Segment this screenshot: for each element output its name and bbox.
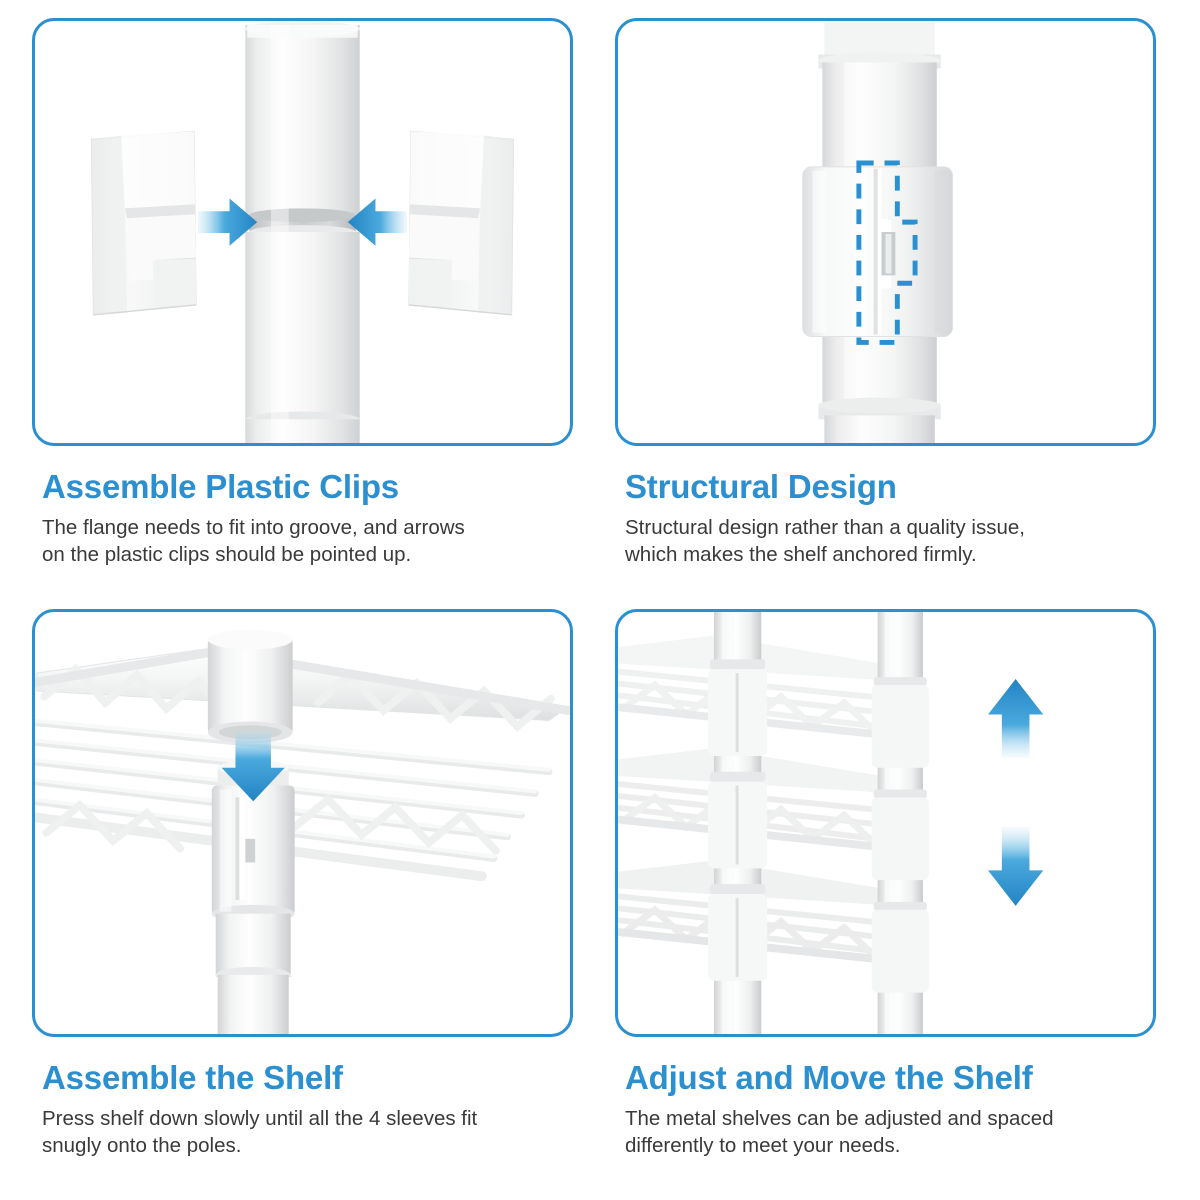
caption-assemble-the-shelf: Assemble the Shelf Press shelf down slow… <box>32 1037 573 1159</box>
shelf-pole-front <box>872 612 929 1034</box>
panel-body: Press shelf down slowly until all the 4 … <box>42 1105 573 1159</box>
figure-structural-design <box>615 18 1156 446</box>
panel-body: The flange needs to fit into groove, and… <box>42 514 573 568</box>
panel-body-line: The flange needs to fit into groove, and… <box>42 514 573 541</box>
panel-body-line: Structural design rather than a quality … <box>625 514 1156 541</box>
plastic-clip-right <box>409 131 514 314</box>
panel-title: Structural Design <box>625 470 1156 505</box>
figure-adjust-and-move-the-shelf <box>615 609 1156 1037</box>
instruction-sheet: Assemble Plastic Clips The flange needs … <box>0 0 1200 1200</box>
panel-title: Adjust and Move the Shelf <box>625 1061 1156 1096</box>
panel-adjust-and-move-the-shelf: Adjust and Move the Shelf The metal shel… <box>615 609 1156 1178</box>
panel-body-line: Press shelf down slowly until all the 4 … <box>42 1105 573 1132</box>
plastic-sleeve-assembled <box>803 167 953 337</box>
caption-assemble-plastic-clips: Assemble Plastic Clips The flange needs … <box>32 446 573 568</box>
panel-body-line: which makes the shelf anchored firmly. <box>625 541 1156 568</box>
panel-body-line: differently to meet your needs. <box>625 1132 1156 1159</box>
shelf-pole-rear <box>708 612 767 1034</box>
shelf-corner-sleeve <box>208 630 293 743</box>
arrow-up-icon <box>988 679 1043 758</box>
figure-assemble-plastic-clips <box>32 18 573 446</box>
panel-structural-design: Structural Design Structural design rath… <box>615 18 1156 587</box>
panel-assemble-plastic-clips: Assemble Plastic Clips The flange needs … <box>32 18 573 587</box>
panel-assemble-the-shelf: Assemble the Shelf Press shelf down slow… <box>32 609 573 1178</box>
wire-shelf-illustration <box>35 647 569 876</box>
figure-assemble-the-shelf <box>32 609 573 1037</box>
caption-adjust-and-move-the-shelf: Adjust and Move the Shelf The metal shel… <box>615 1037 1156 1159</box>
panel-title: Assemble Plastic Clips <box>42 470 573 505</box>
panel-body-line: The metal shelves can be adjusted and sp… <box>625 1105 1156 1132</box>
panel-title: Assemble the Shelf <box>42 1061 573 1096</box>
panel-body-line: on the plastic clips should be pointed u… <box>42 541 573 568</box>
plastic-clip-left <box>92 131 197 314</box>
pole-illustration <box>245 21 359 443</box>
panel-body: Structural design rather than a quality … <box>625 514 1156 568</box>
panel-body: The metal shelves can be adjusted and sp… <box>625 1105 1156 1159</box>
caption-structural-design: Structural Design Structural design rath… <box>615 446 1156 568</box>
panel-body-line: snugly onto the poles. <box>42 1132 573 1159</box>
arrow-down-icon <box>988 827 1043 906</box>
